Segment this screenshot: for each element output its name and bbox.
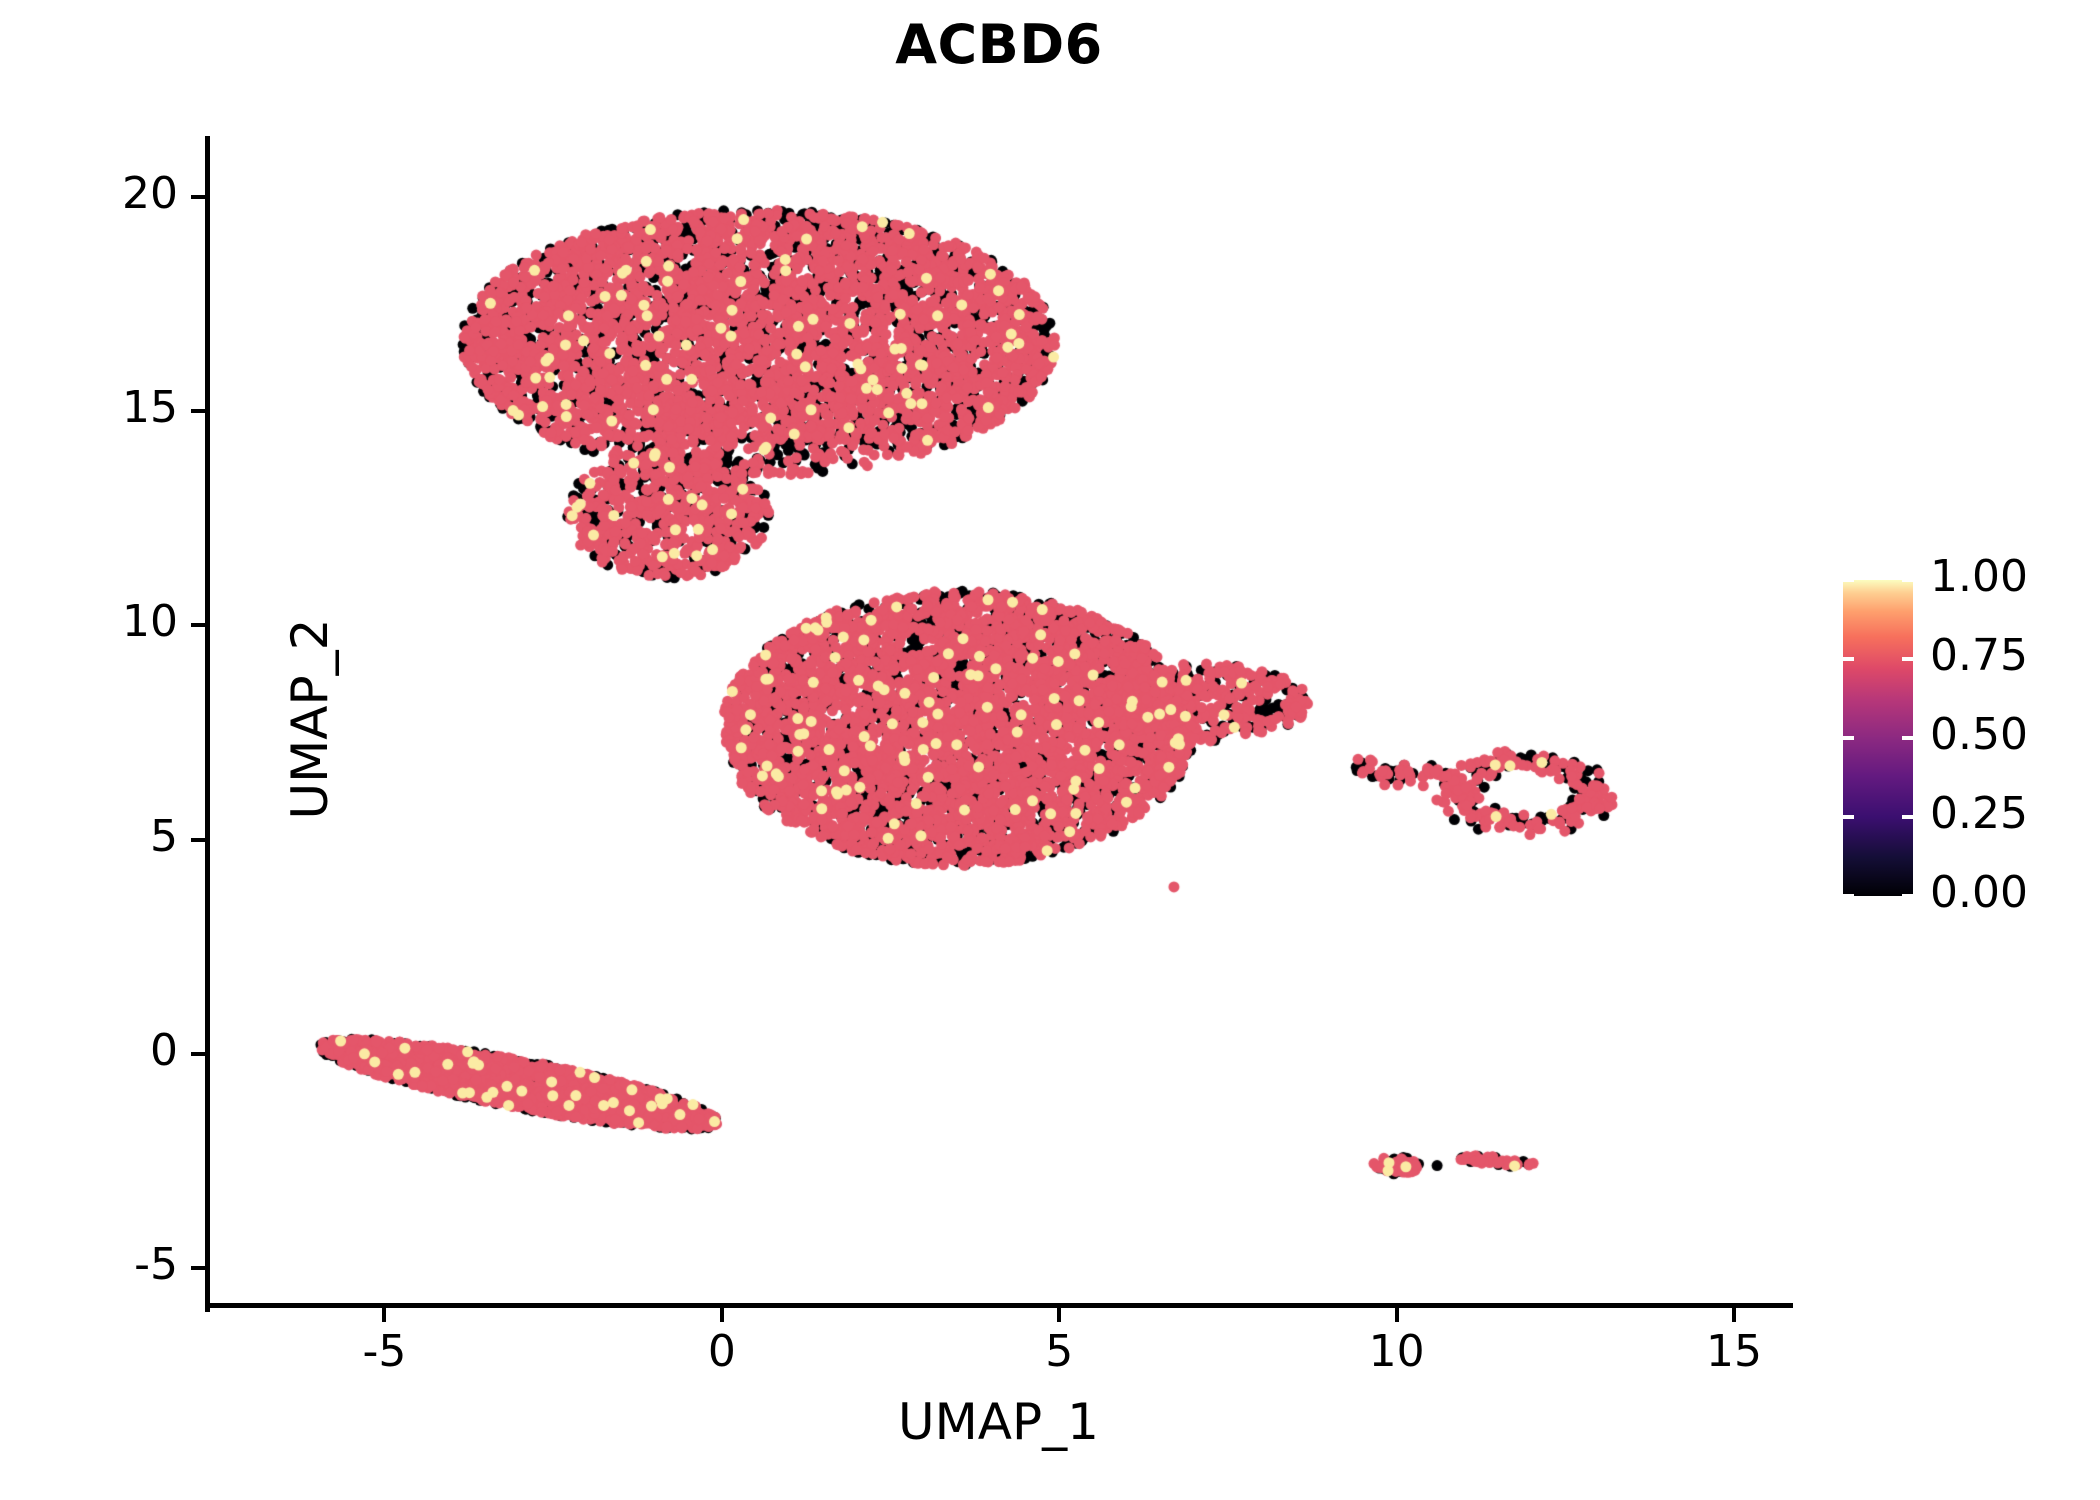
x-tick-label: 10 bbox=[1297, 1326, 1497, 1377]
x-tick-mark bbox=[382, 1308, 386, 1322]
colorbar-tick-mark bbox=[1902, 657, 1913, 661]
page-title: ACBD6 bbox=[209, 18, 1789, 72]
y-tick-label: 10 bbox=[0, 596, 178, 647]
x-tick-mark bbox=[720, 1308, 724, 1322]
colorbar-tick-label: 0.50 bbox=[1930, 709, 2028, 760]
x-tick-label: 5 bbox=[959, 1326, 1159, 1377]
colorbar-tick-mark bbox=[1902, 736, 1913, 740]
y-tick-mark bbox=[191, 838, 205, 842]
x-tick-label: -5 bbox=[284, 1326, 484, 1377]
y-tick-label: 15 bbox=[0, 382, 178, 433]
y-tick-mark bbox=[191, 195, 205, 199]
x-tick-mark bbox=[1395, 1308, 1399, 1322]
colorbar-tick-label: 0.75 bbox=[1930, 630, 2028, 681]
figure-canvas: ACBD6 20151050-5-5051015 UMAP_1 UMAP_2 1… bbox=[0, 0, 2100, 1500]
colorbar-tick-label: 0.25 bbox=[1930, 788, 2028, 839]
x-tick-label: 0 bbox=[622, 1326, 822, 1377]
colorbar-tick-label: 1.00 bbox=[1930, 551, 2028, 602]
y-tick-mark bbox=[191, 623, 205, 627]
colorbar-tick-mark bbox=[1843, 815, 1854, 819]
colorbar-tick-mark bbox=[1902, 578, 1913, 582]
colorbar-tick-label: 0.00 bbox=[1930, 867, 2028, 918]
y-tick-label: 20 bbox=[0, 168, 178, 219]
colorbar-tick-mark bbox=[1843, 657, 1854, 661]
colorbar-tick-mark bbox=[1902, 815, 1913, 819]
colorbar-tick-mark bbox=[1902, 894, 1913, 898]
y-axis-label: UMAP_2 bbox=[281, 136, 339, 1302]
y-tick-label: -5 bbox=[0, 1239, 178, 1290]
y-tick-mark bbox=[191, 1266, 205, 1270]
colorbar-tick-mark bbox=[1843, 578, 1854, 582]
x-tick-mark bbox=[1057, 1308, 1061, 1322]
scatter-plot-area bbox=[209, 141, 1788, 1307]
x-tick-label: 15 bbox=[1634, 1326, 1834, 1377]
x-axis-label: UMAP_1 bbox=[209, 1393, 1788, 1451]
y-tick-mark bbox=[191, 1052, 205, 1056]
y-tick-mark bbox=[191, 409, 205, 413]
colorbar-tick-mark bbox=[1843, 894, 1854, 898]
colorbar-tick-mark bbox=[1843, 736, 1854, 740]
y-tick-label: 5 bbox=[0, 811, 178, 862]
x-tick-mark bbox=[1732, 1308, 1736, 1322]
y-tick-label: 0 bbox=[0, 1025, 178, 1076]
scatter-points-canvas bbox=[209, 141, 1788, 1307]
